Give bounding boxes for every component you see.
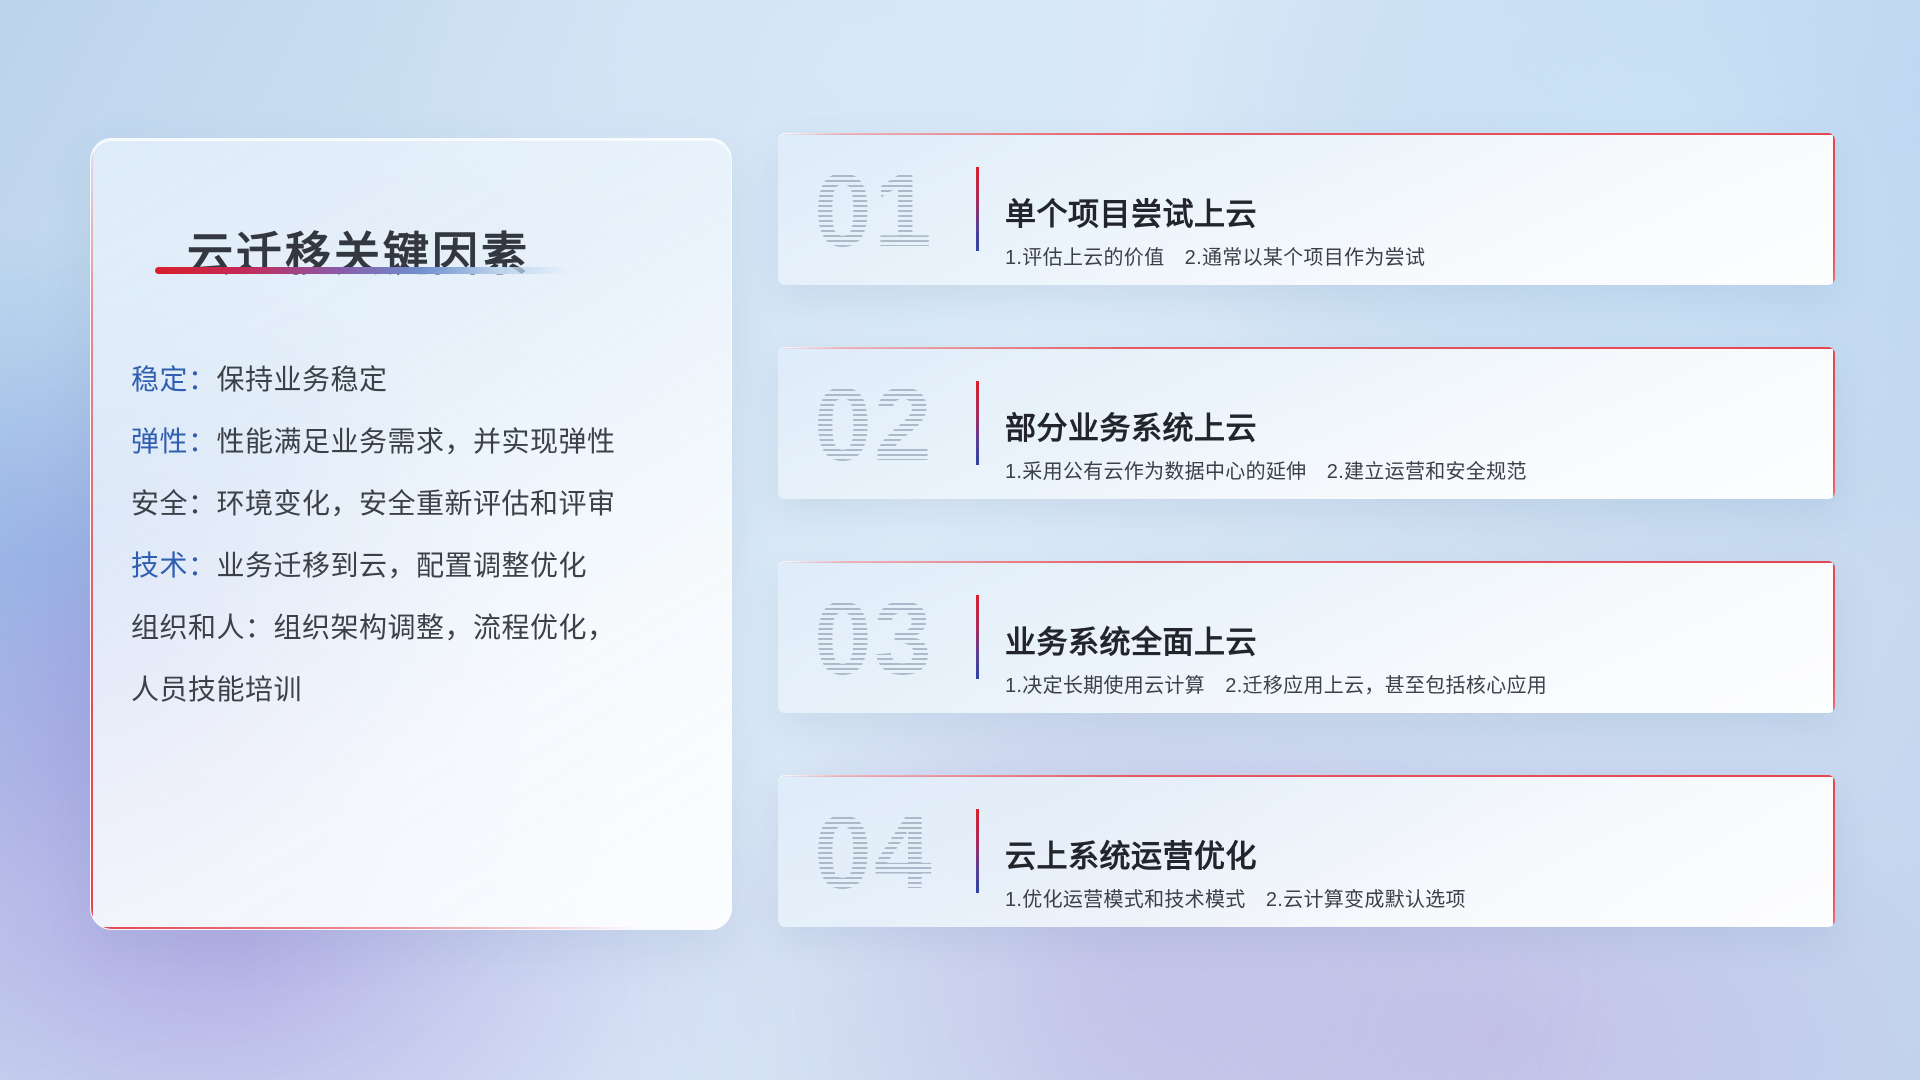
list-item-key: 安全： — [131, 488, 217, 519]
stage-number: 03 — [814, 583, 994, 695]
list-item-text: 保持业务稳定 — [217, 364, 388, 395]
stage-title: 部分业务系统上云 — [1005, 403, 1257, 448]
title-gradient-rule — [155, 267, 569, 274]
migration-stage-cards: 01 单个项目尝试上云 1.评估上云的价值 2.通常以某个项目作为尝试 02 部… — [778, 133, 1835, 927]
card-title-bar — [976, 595, 979, 679]
card-top-accent — [778, 347, 1835, 349]
stage-card[interactable]: 03 业务系统全面上云 1.决定长期使用云计算 2.迁移应用上云，甚至包括核心应… — [778, 561, 1835, 713]
card-top-accent — [778, 133, 1835, 135]
stage-description: 1.评估上云的价值 2.通常以某个项目作为尝试 — [1005, 241, 1425, 270]
card-top-accent — [778, 561, 1835, 563]
card-title-bar — [976, 809, 979, 893]
card-right-accent — [1833, 347, 1835, 499]
stage-description: 1.采用公有云作为数据中心的延伸 2.建立运营和安全规范 — [1005, 455, 1527, 484]
stage-card[interactable]: 04 云上系统运营优化 1.优化运营模式和技术模式 2.云计算变成默认选项 — [778, 775, 1835, 927]
card-right-accent — [1833, 775, 1835, 927]
list-item-key: 组织和人： — [131, 612, 274, 643]
card-title-bar — [976, 381, 979, 465]
list-item: 安全：环境变化，安全重新评估和评审 — [131, 473, 705, 535]
stage-description: 1.决定长期使用云计算 2.迁移应用上云，甚至包括核心应用 — [1005, 669, 1547, 698]
key-factors-panel: 云迁移关键因素 稳定：保持业务稳定 弹性：性能满足业务需求，并实现弹性 安全：环… — [90, 138, 732, 930]
slide-stage: 云迁移关键因素 稳定：保持业务稳定 弹性：性能满足业务需求，并实现弹性 安全：环… — [0, 0, 1920, 1080]
key-factors-list: 稳定：保持业务稳定 弹性：性能满足业务需求，并实现弹性 安全：环境变化，安全重新… — [131, 349, 705, 721]
stage-card[interactable]: 01 单个项目尝试上云 1.评估上云的价值 2.通常以某个项目作为尝试 — [778, 133, 1835, 285]
list-item: 弹性：性能满足业务需求，并实现弹性 — [131, 411, 705, 473]
list-item-text: 业务迁移到云，配置调整优化 — [217, 550, 588, 581]
card-right-accent — [1833, 133, 1835, 285]
stage-number: 01 — [814, 155, 994, 267]
list-item: 人员技能培训 — [131, 659, 705, 721]
list-item-key: 稳定： — [131, 364, 217, 395]
card-title-bar — [976, 167, 979, 251]
stage-title: 单个项目尝试上云 — [1005, 189, 1257, 234]
list-item-text: 环境变化，安全重新评估和评审 — [217, 488, 616, 519]
list-item: 技术：业务迁移到云，配置调整优化 — [131, 535, 705, 597]
list-item: 组织和人：组织架构调整，流程优化， — [131, 597, 705, 659]
list-item-text: 人员技能培训 — [131, 674, 302, 705]
stage-description: 1.优化运营模式和技术模式 2.云计算变成默认选项 — [1005, 883, 1466, 912]
stage-card[interactable]: 02 部分业务系统上云 1.采用公有云作为数据中心的延伸 2.建立运营和安全规范 — [778, 347, 1835, 499]
card-top-accent — [778, 775, 1835, 777]
list-item: 稳定：保持业务稳定 — [131, 349, 705, 411]
list-item-key: 弹性： — [131, 426, 217, 457]
list-item-text: 组织架构调整，流程优化， — [274, 612, 616, 643]
stage-number: 02 — [814, 369, 994, 481]
stage-number: 04 — [814, 797, 994, 909]
list-item-key: 技术： — [131, 550, 217, 581]
stage-title: 业务系统全面上云 — [1005, 617, 1257, 662]
list-item-text: 性能满足业务需求，并实现弹性 — [217, 426, 616, 457]
card-right-accent — [1833, 561, 1835, 713]
stage-title: 云上系统运营优化 — [1005, 831, 1257, 876]
